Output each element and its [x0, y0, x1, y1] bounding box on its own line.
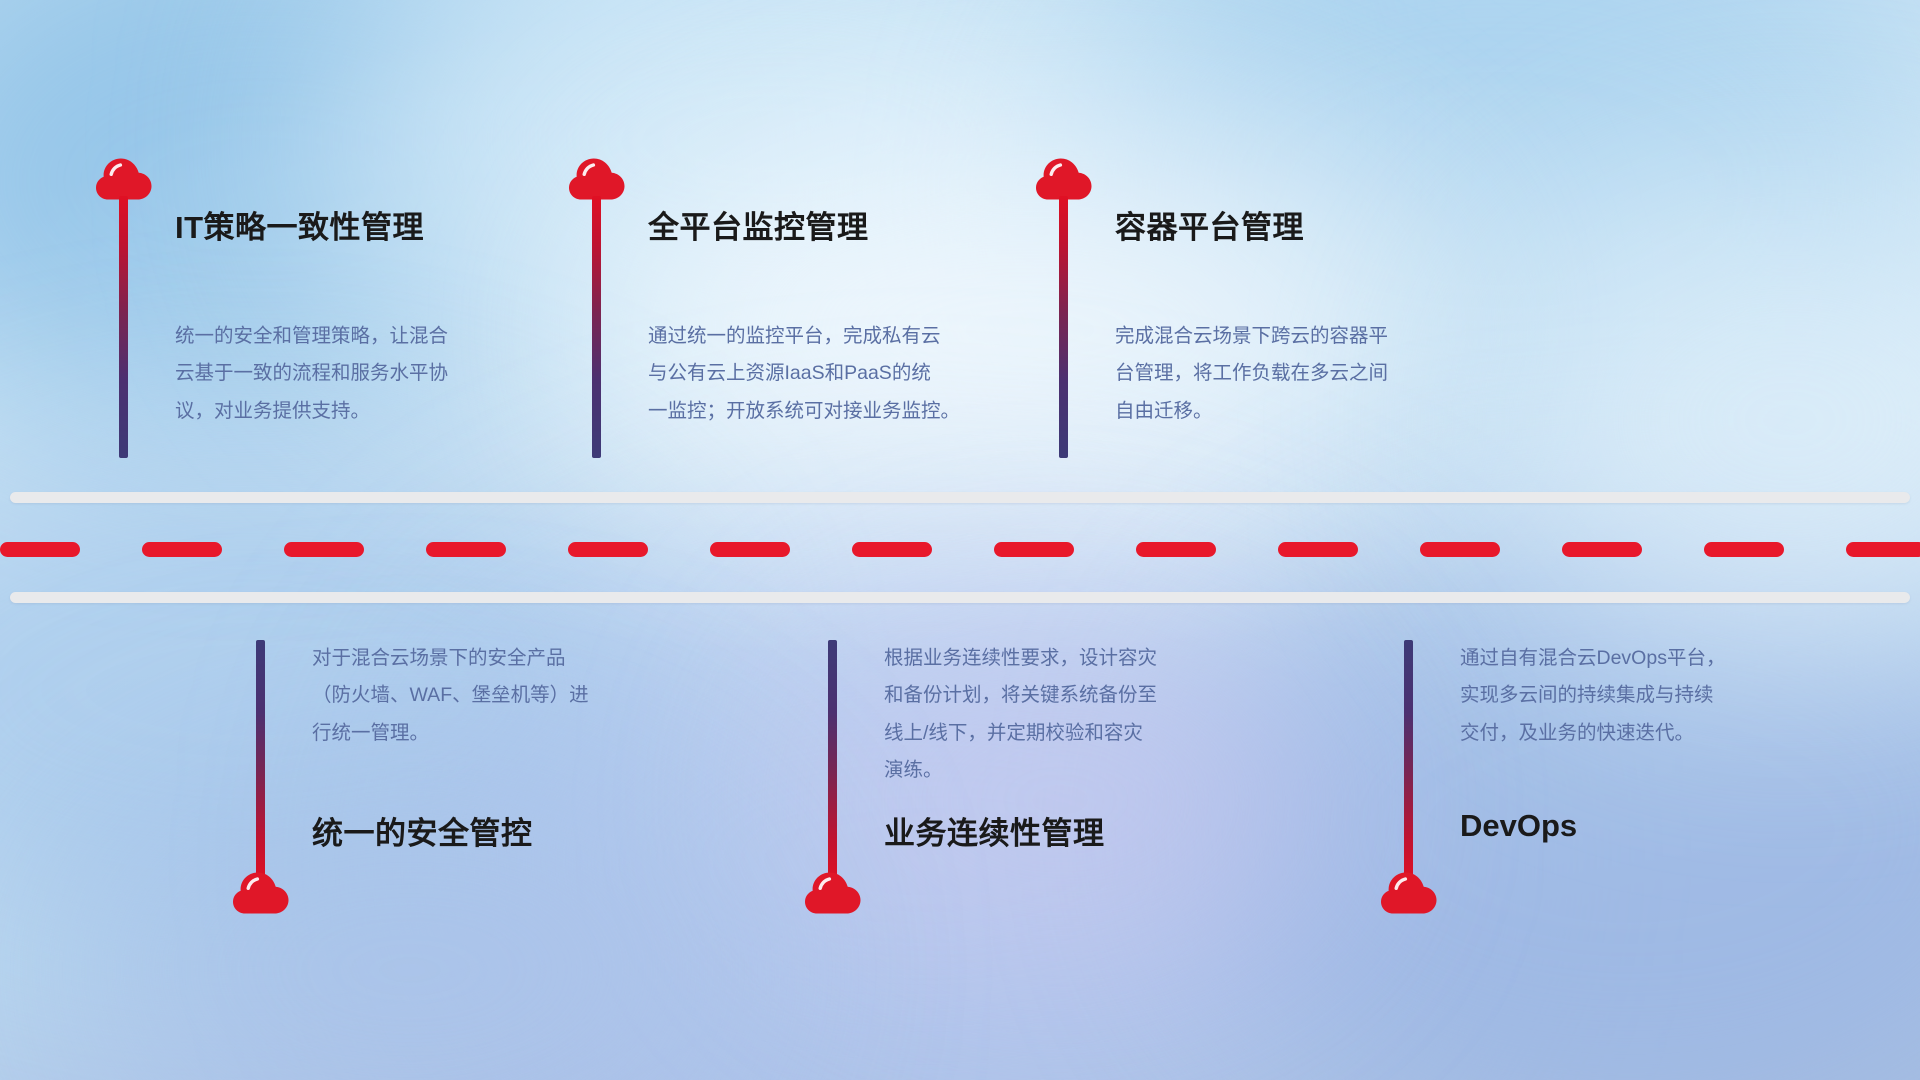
feature-title: IT策略一致性管理 [175, 202, 424, 247]
road-dash [1846, 542, 1920, 557]
road-line-bottom [10, 592, 1910, 603]
cloud-icon [1380, 872, 1438, 914]
road-dash [142, 542, 222, 557]
connector-post [119, 196, 128, 458]
feature-title: DevOps [1460, 808, 1577, 844]
feature-title: 全平台监控管理 [648, 202, 869, 247]
feature-body: 通过统一的监控平台，完成私有云 与公有云上资源IaaS和PaaS的统 一监控；开… [648, 318, 1068, 430]
cloud-icon [232, 872, 290, 914]
feature-body: 通过自有混合云DevOps平台， 实现多云间的持续集成与持续 交付，及业务的快速… [1460, 640, 1880, 752]
road-dashed-centerline [0, 542, 1920, 557]
road-dash [710, 542, 790, 557]
cloud-icon [804, 872, 862, 914]
road-line-top [10, 492, 1910, 503]
connector-post [1404, 640, 1413, 882]
feature-body: 根据业务连续性要求，设计容灾 和备份计划，将关键系统备份至 线上/线下，并定期校… [884, 640, 1304, 790]
connector-post [592, 196, 601, 458]
road-dash [0, 542, 80, 557]
cloud-icon [1035, 158, 1093, 200]
road-dash [426, 542, 506, 557]
road-dash [568, 542, 648, 557]
road-dash [1278, 542, 1358, 557]
feature-body: 统一的安全和管理策略，让混合 云基于一致的流程和服务水平协 议，对业务提供支持。 [175, 318, 595, 430]
feature-title: 统一的安全管控 [312, 808, 533, 853]
feature-body: 对于混合云场景下的安全产品 （防火墙、WAF、堡垒机等）进 行统一管理。 [312, 640, 732, 752]
feature-title: 容器平台管理 [1115, 202, 1304, 247]
road-dash [1136, 542, 1216, 557]
cloud-icon [95, 158, 153, 200]
road-dash [284, 542, 364, 557]
cloud-icon [568, 158, 626, 200]
feature-title: 业务连续性管理 [884, 808, 1105, 853]
road-dash [1704, 542, 1784, 557]
connector-post [1059, 196, 1068, 458]
connector-post [828, 640, 837, 882]
road-dash [852, 542, 932, 557]
road-dash [994, 542, 1074, 557]
connector-post [256, 640, 265, 882]
road-dash [1562, 542, 1642, 557]
road-dash [1420, 542, 1500, 557]
road-divider [0, 470, 1920, 630]
feature-body: 完成混合云场景下跨云的容器平 台管理，将工作负载在多云之间 自由迁移。 [1115, 318, 1535, 430]
